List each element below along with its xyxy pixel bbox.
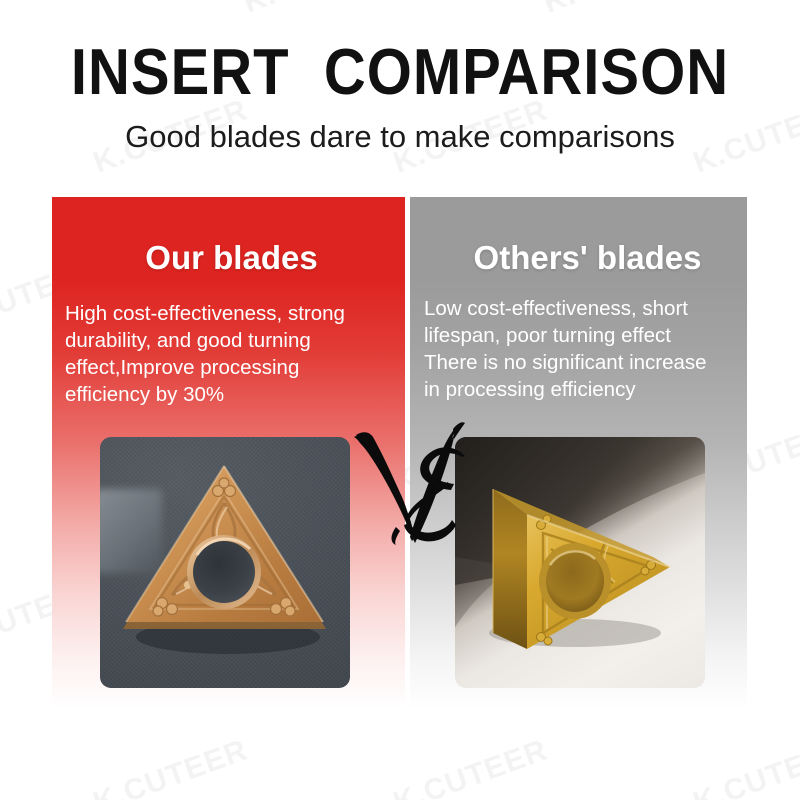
vs-icon	[352, 419, 470, 545]
others-blades-photo	[455, 437, 705, 688]
insert-illustration-others	[455, 437, 705, 688]
our-blades-photo	[100, 437, 350, 688]
watermark-text: K.CUTEER	[389, 733, 552, 800]
others-blades-description: Low cost-effectiveness, short lifespan, …	[410, 276, 747, 404]
our-blades-description: High cost-effectiveness, strong durabili…	[52, 276, 405, 409]
page-header: INSERT COMPARISON Good blades dare to ma…	[0, 0, 800, 154]
comparison-section: Our blades High cost-effectiveness, stro…	[0, 197, 800, 709]
watermark-text: K.CUTEER	[689, 733, 800, 800]
watermark-text: K.CUTEER	[89, 733, 252, 800]
insert-illustration-ours	[100, 437, 350, 688]
our-blades-heading: Our blades	[52, 197, 405, 276]
page-title: INSERT COMPARISON	[0, 0, 800, 105]
others-blades-heading: Others' blades	[410, 197, 747, 276]
